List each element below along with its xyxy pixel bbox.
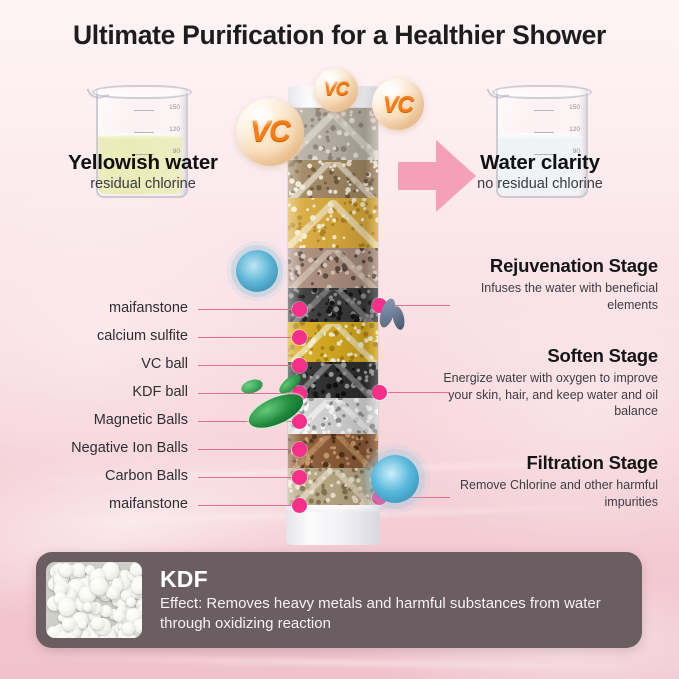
stage-desc-1: Energize water with oxygen to improve yo… xyxy=(438,370,658,420)
stage-title-1: Soften Stage xyxy=(438,345,658,367)
kdf-description: Effect: Removes heavy metals and harmful… xyxy=(160,594,642,632)
scale-mark-150: 150 xyxy=(169,104,180,111)
scale-mark-120: 120 xyxy=(169,126,180,133)
connector-line-left-5 xyxy=(198,449,292,450)
connector-dot-right-1 xyxy=(372,385,387,400)
kdf-pellet xyxy=(83,602,92,611)
chevron-icon xyxy=(288,162,378,198)
connector-dot-left-1 xyxy=(292,330,307,345)
infographic-root: Ultimate Purification for a Healthier Sh… xyxy=(0,0,679,679)
connector-line-left-2 xyxy=(198,365,292,366)
connector-line-left-0 xyxy=(198,309,292,310)
kdf-pellet xyxy=(90,577,108,595)
caption-title-left: Yellowish water xyxy=(28,152,258,175)
kdf-pellets-photo xyxy=(46,562,142,638)
kdf-pellet xyxy=(113,610,125,622)
kdf-pellet xyxy=(62,617,75,630)
media-label-6: Carbon Balls xyxy=(105,468,188,484)
scale-mark-120: 120 xyxy=(569,126,580,133)
chevron-icon xyxy=(288,200,378,248)
media-layer-mixed-granule xyxy=(288,248,378,288)
media-label-4: Magnetic Balls xyxy=(94,412,188,428)
media-label-3: KDF ball xyxy=(132,384,188,400)
media-label-2: VC ball xyxy=(141,356,188,372)
page-title: Ultimate Purification for a Healthier Sh… xyxy=(0,20,679,51)
connector-line-right-1 xyxy=(388,392,450,393)
kdf-pellet xyxy=(130,562,142,576)
kdf-title: KDF xyxy=(160,567,642,591)
media-label-1: calcium sulfite xyxy=(97,328,188,344)
stage-title-2: Filtration Stage xyxy=(438,452,658,474)
kdf-pellet xyxy=(58,598,76,616)
virus-blue-bottom-icon xyxy=(371,455,419,503)
media-layer-calcium-sulfite xyxy=(288,160,378,198)
media-layer-vc-ball xyxy=(288,198,378,248)
connector-dot-left-2 xyxy=(292,358,307,373)
media-label-0: maifanstone xyxy=(109,300,188,316)
kdf-pellet xyxy=(122,622,135,635)
connector-dot-left-6 xyxy=(292,470,307,485)
stage-block-0: Rejuvenation StageInfuses the water with… xyxy=(438,255,658,313)
kdf-pellet xyxy=(131,578,142,595)
stage-title-0: Rejuvenation Stage xyxy=(438,255,658,277)
connector-dot-left-0 xyxy=(292,302,307,317)
connector-dot-left-7 xyxy=(292,498,307,513)
kdf-pellet xyxy=(106,586,120,600)
scale-mark-150: 150 xyxy=(569,104,580,111)
connector-dot-left-4 xyxy=(292,414,307,429)
media-label-7: maifanstone xyxy=(109,496,188,512)
chevron-icon xyxy=(288,250,378,288)
stage-desc-2: Remove Chlorine and other harmful impuri… xyxy=(438,477,658,510)
caption-yellowish-water: Yellowish water residual chlorine xyxy=(28,152,258,192)
stage-block-2: Filtration StageRemove Chlorine and othe… xyxy=(438,452,658,510)
vc-capsule-1: VC xyxy=(314,68,358,112)
kdf-pellet xyxy=(126,597,136,607)
kdf-pellet xyxy=(78,620,87,629)
virus-blue-top-icon xyxy=(236,250,278,292)
vc-capsule-2: VC xyxy=(372,78,424,130)
stage-desc-0: Infuses the water with beneficial elemen… xyxy=(438,280,658,313)
connector-line-left-7 xyxy=(198,505,292,506)
media-label-5: Negative Ion Balls xyxy=(71,440,188,456)
stage-block-1: Soften StageEnergize water with oxygen t… xyxy=(438,345,658,420)
vc-capsule-0: VC xyxy=(236,98,304,166)
connector-line-left-6 xyxy=(198,477,292,478)
caption-sub-left: residual chlorine xyxy=(28,176,258,192)
kdf-info-panel: KDF Effect: Removes heavy metals and har… xyxy=(36,552,642,648)
connector-line-left-1 xyxy=(198,337,292,338)
transformation-arrow-icon xyxy=(398,140,476,212)
connector-dot-left-5 xyxy=(292,442,307,457)
